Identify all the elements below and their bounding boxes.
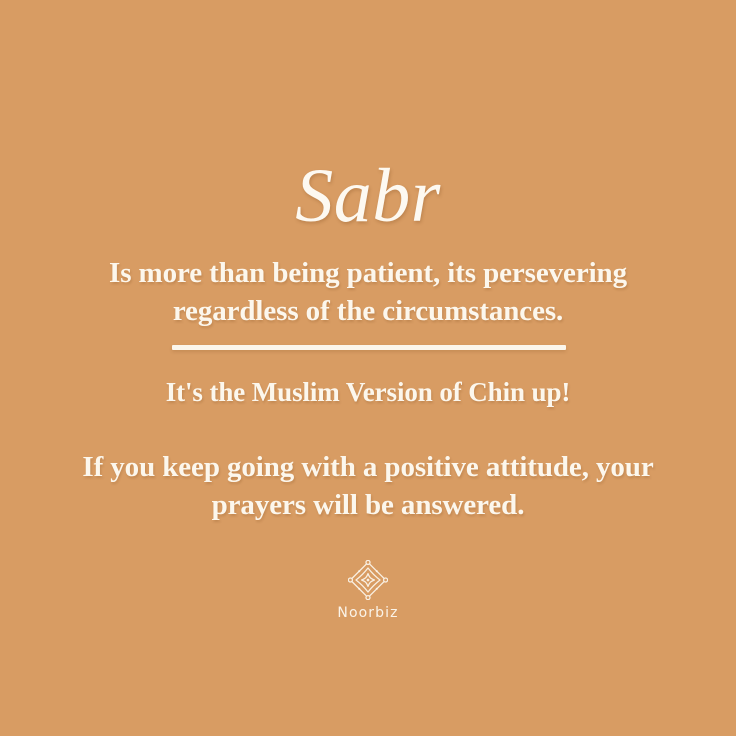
quote-paragraph-2: It's the Muslim Version of Chin up! — [0, 374, 736, 410]
quote-paragraph-1: Is more than being patient, its persever… — [0, 254, 736, 330]
divider-rule — [172, 345, 566, 350]
page-title: Sabr — [0, 158, 736, 234]
brand-wordmark: Noorbiz — [337, 606, 398, 620]
quote-card: Sabr Is more than being patient, its per… — [0, 0, 736, 736]
quote-paragraph-1-line-1: Is more than being patient, its persever… — [0, 254, 736, 292]
quote-paragraph-2-line-1: It's the Muslim Version of Chin up! — [0, 374, 736, 410]
quote-paragraph-3-line-2: prayers will be answered. — [0, 486, 736, 524]
brand-logo: Noorbiz — [0, 560, 736, 620]
quote-paragraph-3-line-1: If you keep going with a positive attitu… — [0, 448, 736, 486]
quote-paragraph-3: If you keep going with a positive attitu… — [0, 448, 736, 524]
quote-paragraph-1-line-2: regardless of the circumstances. — [0, 292, 736, 330]
noorbiz-diamond-ornament-icon — [348, 560, 388, 600]
